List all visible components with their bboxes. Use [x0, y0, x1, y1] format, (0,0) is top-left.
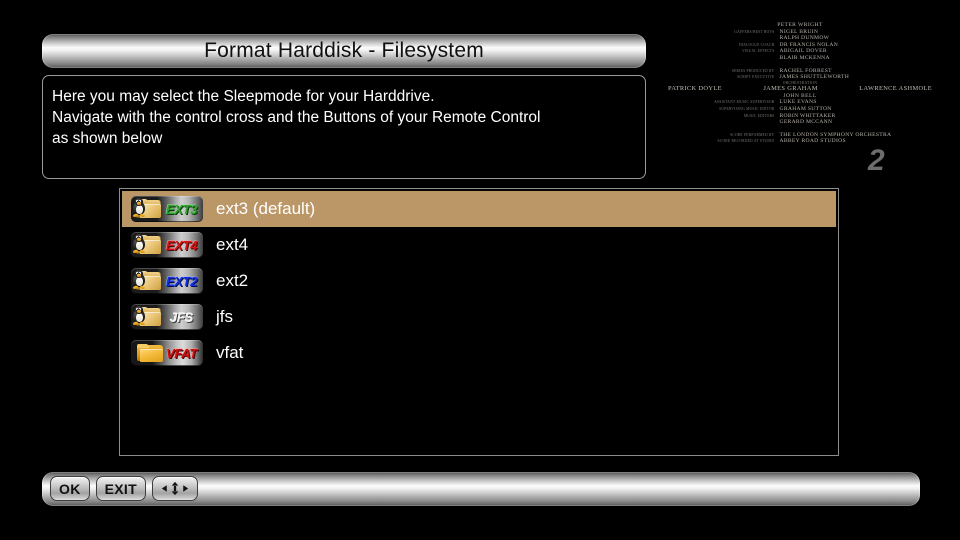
filesystem-badge: EXT3 [162, 196, 201, 222]
exit-button[interactable]: EXIT [96, 476, 146, 501]
list-item[interactable]: EXT3 ext3 (default) [122, 191, 836, 227]
filesystem-list[interactable]: EXT3 ext3 (default) EXT4 ext4 [119, 188, 839, 456]
credit-role: Music Editors [671, 114, 780, 118]
credit-line: Visual EffectsAbigail Dover [666, 48, 934, 55]
credit-line: Assistant Music SupervisorLuke Evans [666, 99, 934, 106]
vfat-folder-icon: VFAT [131, 340, 203, 366]
channel-logo: 2 [868, 146, 884, 176]
list-item-label: ext3 (default) [216, 199, 315, 219]
ext2-folder-icon: EXT2 [131, 268, 203, 294]
credit-name: Ralph Dunmow [780, 35, 930, 42]
credit-name: Patrick Doyle [668, 85, 722, 93]
credit-line: Gaffers/Best BoysNigel Bruin [666, 29, 934, 36]
credit-name: Rachel Forrest [780, 68, 930, 75]
credit-name: Abigail Dover [780, 48, 930, 55]
credit-name: Lawrence Ashmole [859, 85, 932, 93]
credit-name: Gerard McCann [780, 119, 930, 126]
tux-penguin-icon [132, 234, 146, 252]
tux-penguin-icon [132, 270, 146, 288]
list-item-label: ext4 [216, 235, 248, 255]
page-title: Format Harddisk - Filesystem [204, 39, 484, 63]
description-line: as shown below [52, 128, 633, 149]
folder-shape [137, 344, 164, 362]
credit-name: Peter Wright [666, 22, 934, 29]
credit-role: Visual Effects [671, 49, 780, 53]
credit-name: James Shuttleworth [780, 74, 930, 81]
credit-role: Series Produced by [671, 69, 780, 73]
credit-role: Score Performed by [671, 133, 780, 137]
list-item-label: jfs [216, 307, 233, 327]
credit-line: Supervising Music EditorGraham Sutton [666, 106, 934, 113]
tux-penguin-icon [132, 198, 146, 216]
credit-role: Assistant Music Supervisor [671, 100, 780, 104]
credit-line: John Bell [666, 93, 934, 100]
credit-line: Score Performed byThe London Symphony Or… [666, 132, 934, 139]
credit-role: Script Executive [671, 75, 780, 79]
filesystem-badge: VFAT [162, 340, 201, 366]
ok-button[interactable]: OK [50, 476, 90, 501]
credit-name: Blair McKenna [780, 55, 930, 62]
bottom-button-bar: OK EXIT [42, 472, 920, 506]
movie-credits-roll: Peter Wright Gaffers/Best BoysNigel Brui… [666, 22, 934, 182]
description-line: Here you may select the Sleepmode for yo… [52, 86, 633, 107]
credit-role: Supervising Music Editor [671, 107, 780, 111]
list-item[interactable]: VFAT vfat [122, 335, 836, 371]
credit-role: Score Recorded at Studio [671, 139, 780, 143]
credit-name: Luke Evans [780, 99, 930, 106]
credit-role: Gaffers/Best Boys [671, 30, 780, 34]
credit-role: Dialogue Coach [671, 43, 780, 47]
description-panel: Here you may select the Sleepmode for yo… [42, 75, 646, 179]
credit-name: Nigel Bruin [780, 29, 930, 36]
credit-name-group: Patrick Doyle James Graham Lawrence Ashm… [666, 85, 934, 93]
filesystem-badge: EXT2 [162, 268, 201, 294]
credit-line: Dialogue CoachDr Francis Nolan [666, 42, 934, 49]
description-line: Navigate with the control cross and the … [52, 107, 633, 128]
credit-name: James Graham [763, 85, 817, 93]
jfs-folder-icon: JFS [131, 304, 203, 330]
credit-line: Script ExecutiveJames Shuttleworth [666, 74, 934, 81]
ext4-folder-icon: EXT4 [131, 232, 203, 258]
credit-name: Graham Sutton [780, 106, 930, 113]
list-item[interactable]: JFS jfs [122, 299, 836, 335]
ext3-folder-icon: EXT3 [131, 196, 203, 222]
credit-line: Gerard McCann [666, 119, 934, 126]
credit-name: Dr Francis Nolan [780, 42, 930, 49]
exit-button-label: EXIT [105, 481, 137, 497]
credit-name: John Bell [666, 93, 934, 100]
ok-button-label: OK [59, 481, 81, 497]
window-title-bar: Format Harddisk - Filesystem [42, 34, 646, 68]
control-cross-icon [161, 480, 189, 497]
button-group: OK EXIT [50, 476, 198, 501]
list-item-label: vfat [216, 343, 243, 363]
credit-line: Series Produced byRachel Forrest [666, 68, 934, 75]
tux-penguin-icon [132, 306, 146, 324]
control-cross-button[interactable] [152, 476, 198, 501]
credit-name: Abbey Road Studios [780, 138, 930, 145]
credit-line: Score Recorded at StudioAbbey Road Studi… [666, 138, 934, 145]
list-item-label: ext2 [216, 271, 248, 291]
credit-line: Music EditorsRobin Whittaker [666, 113, 934, 120]
filesystem-badge: EXT4 [162, 232, 201, 258]
list-item[interactable]: EXT2 ext2 [122, 263, 836, 299]
credit-line: Peter Wright [666, 22, 934, 29]
credit-line: Ralph Dunmow [666, 35, 934, 42]
credit-line: Patrick Doyle James Graham Lawrence Ashm… [666, 85, 934, 93]
credit-line: Blair McKenna [666, 55, 934, 62]
list-item[interactable]: EXT4 ext4 [122, 227, 836, 263]
filesystem-badge: JFS [162, 304, 201, 330]
credit-name: The London Symphony Orchestra [780, 132, 930, 139]
credit-name: Robin Whittaker [780, 113, 930, 120]
